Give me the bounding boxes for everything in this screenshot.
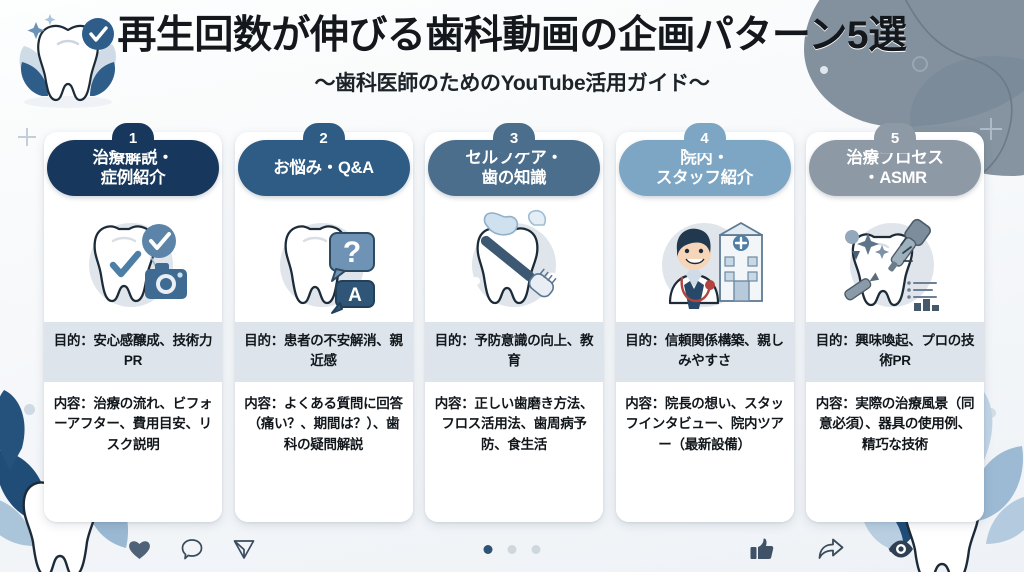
card-3[interactable]: 3 セルフケア・ 歯の知識 [425,132,603,522]
tooth-check-camera-icon [73,207,193,317]
infographic-canvas: 再生回数が伸びる歯科動画の企画パターン5選 〜歯科医師のためのYouTube活用… [0,0,1024,572]
comment-icon[interactable] [181,538,203,560]
card-list: 1 治療解説・ 症例紹介 [44,132,984,522]
page-dot-3[interactable] [532,545,541,554]
card-4-content: 内容：院長の想い、スタッフインタビュー、院内ツアー（最新設備） [616,382,794,523]
card-4[interactable]: 4 院内・ スタッフ紹介 [616,132,794,522]
card-1-content: 内容：治療の流れ、ビフォーアフター、費用目安、リスク説明 [44,382,222,523]
card-4-purpose: 目的：信頼関係構築、親しみやすさ [616,322,794,382]
tooth-qa-bubbles-icon: ? A [264,207,384,317]
carousel-page-dots[interactable] [484,545,541,554]
card-1-number-badge: 1 [112,123,154,153]
card-5[interactable]: 5 治療プロセス ・ASMR [806,132,984,522]
card-5-title-line-2: ・ASMR [846,168,943,188]
header-block: 再生回数が伸びる歯科動画の企画パターン5選 〜歯科医師のためのYouTube活用… [0,14,1024,97]
card-1-icon-area [44,202,222,322]
page-dot-2[interactable] [508,545,517,554]
card-2-number-badge: 2 [303,123,345,153]
card-2[interactable]: 2 お悩み・Q&A ? A 目的：患者の不安解 [235,132,413,522]
card-1-title-line-2: 症例紹介 [92,168,173,188]
card-3-number-badge: 3 [493,123,535,153]
dot-decoration-right [986,408,996,418]
bottom-action-bar [0,526,1024,572]
svg-text:A: A [348,285,362,306]
dental-drill-tooth-icon [832,207,958,317]
page-dot-1[interactable] [484,545,493,554]
heart-icon[interactable] [128,539,151,560]
card-5-purpose: 目的：興味喚起、プロの技術PR [806,322,984,382]
card-2-purpose: 目的：患者の不安解消、親近感 [235,322,413,382]
svg-text:?: ? [342,236,360,269]
card-2-icon-area: ? A [235,202,413,322]
page-title: 再生回数が伸びる歯科動画の企画パターン5選 [0,14,1024,58]
eye-icon[interactable] [888,540,914,558]
page-subtitle: 〜歯科医師のためのYouTube活用ガイド〜 [0,67,1024,97]
send-icon[interactable] [233,538,255,560]
thumbs-up-icon[interactable] [750,538,774,561]
card-3-content: 内容：正しい歯磨き方法、フロス活用法、歯周病予防、食生活 [425,382,603,523]
card-5-content: 内容：実際の治療風景（同意必須）、器具の使用例、精巧な技術 [806,382,984,523]
plus-mark-left-decoration [18,128,36,146]
card-5-number-badge: 5 [874,123,916,153]
card-3-purpose: 目的：予防意識の向上、教育 [425,322,603,382]
card-1-purpose: 目的：安心感醸成、技術力PR [44,322,222,382]
card-3-icon-area [425,202,603,322]
card-3-title-line-2: 歯の知識 [465,168,562,188]
bottom-left-actions [128,538,255,560]
dot-decoration-left [24,404,35,415]
card-2-content: 内容：よくある質問に回答（痛い？、期間は？）、歯科の疑問解説 [235,382,413,523]
card-5-icon-area [806,202,984,322]
card-4-number-badge: 4 [684,123,726,153]
share-arrow-icon[interactable] [818,538,844,560]
toothbrush-tooth-icon [454,207,574,317]
dentist-clinic-icon [642,207,768,317]
card-1[interactable]: 1 治療解説・ 症例紹介 [44,132,222,522]
card-4-title-line-2: スタッフ紹介 [656,168,753,188]
bottom-right-actions [750,538,914,561]
card-4-icon-area [616,202,794,322]
card-2-title-line-1: お悩み・Q&A [273,158,374,178]
